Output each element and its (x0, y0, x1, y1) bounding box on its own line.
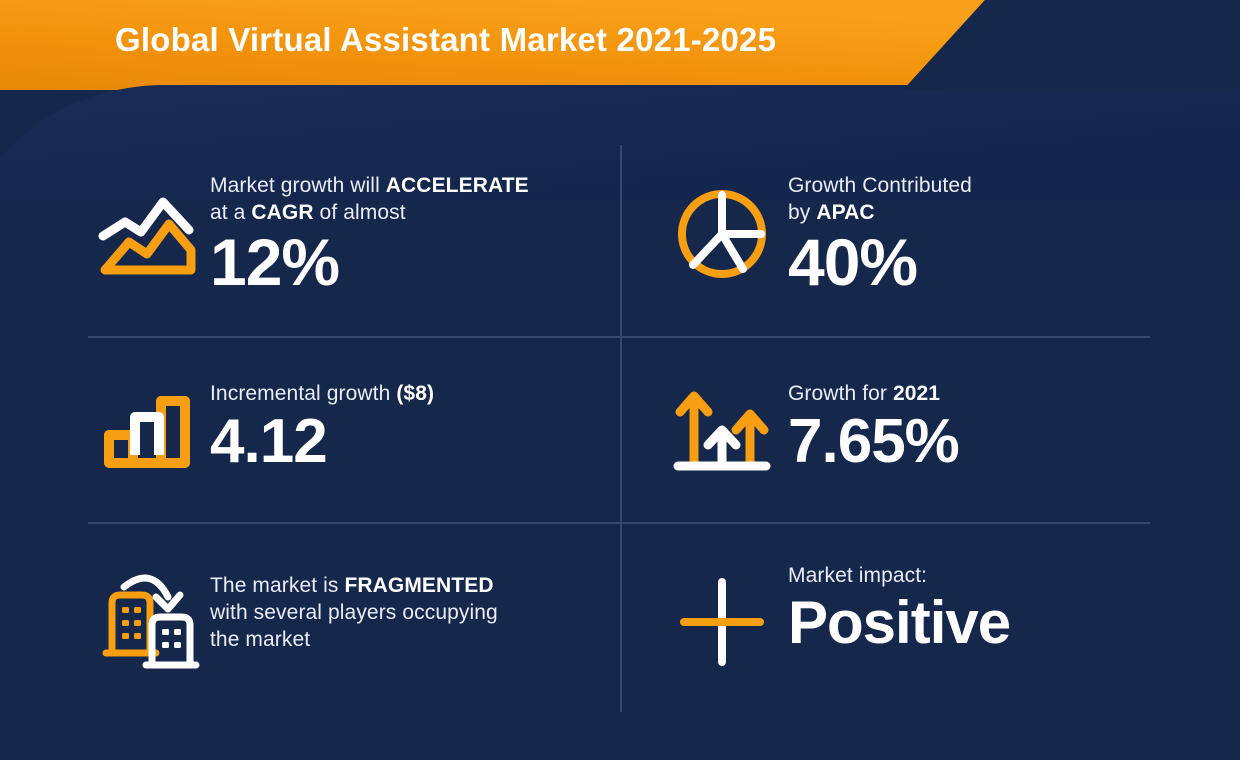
caption-line2-bold: CAGR (251, 201, 313, 224)
caption-line1-bold: ($8) (396, 382, 434, 405)
caption-line1-bold: ACCELERATE (386, 174, 529, 197)
divider-horizontal-1 (88, 336, 1150, 338)
caption-line2-post: of almost (314, 201, 406, 224)
caption-line1-plain: Market growth will (210, 174, 386, 197)
area-chart-icon (92, 186, 202, 286)
stat-value-apac: 40% (788, 229, 1188, 296)
stat-text-growth-2021: Growth for 2021 7.65% (788, 374, 1188, 473)
caption-line2-pre: by (788, 201, 816, 224)
caption-line1-plain: The market is (210, 574, 344, 597)
stat-cell-growth-2021: Growth for 2021 7.65% (668, 374, 1188, 476)
stat-value-growth-2021: 7.65% (788, 410, 1188, 473)
stat-caption-growth-2021: Growth for 2021 (788, 380, 1188, 407)
page-title: Global Virtual Assistant Market 2021-202… (115, 21, 776, 59)
caption-line1-plain: Incremental growth (210, 382, 396, 405)
caption-line1-bold: 2021 (893, 382, 940, 405)
caption-line2-pre: with several players occupying (210, 601, 498, 624)
divider-horizontal-2 (88, 522, 1150, 524)
stat-cell-fragmented: The market is FRAGMENTED with several pl… (92, 560, 612, 672)
stat-text-fragmented: The market is FRAGMENTED with several pl… (210, 560, 612, 653)
caption-line2-bold: APAC (816, 201, 874, 224)
caption-line1-bold: FRAGMENTED (344, 574, 493, 597)
caption-line2-pre: at a (210, 201, 251, 224)
stat-caption-cagr: Market growth will ACCELERATE at a CAGR … (210, 172, 612, 226)
caption-line1-plain: Growth Contributed (788, 174, 972, 197)
infographic-root: Global Virtual Assistant Market 2021-202… (0, 0, 1240, 760)
stat-value-cagr: 12% (210, 229, 612, 296)
stat-cell-cagr: Market growth will ACCELERATE at a CAGR … (92, 168, 612, 296)
stat-caption-market-impact: Market impact: (788, 562, 1188, 589)
buildings-transfer-icon (92, 562, 204, 672)
caption-line1-plain: Market impact: (788, 564, 927, 587)
stat-text-incremental-growth: Incremental growth ($8) 4.12 (210, 374, 612, 473)
stat-value-market-impact: Positive (788, 592, 1188, 653)
stat-cell-apac: Growth Contributed by APAC 40% (668, 168, 1188, 296)
stat-cell-incremental-growth: Incremental growth ($8) 4.12 (92, 374, 612, 476)
caption-line3: the market (210, 628, 310, 651)
divider-vertical (620, 145, 622, 712)
bar-chart-icon (92, 380, 202, 476)
plus-icon (668, 572, 776, 672)
stat-caption-fragmented: The market is FRAGMENTED with several pl… (210, 572, 612, 653)
caption-line1-plain: Growth for (788, 382, 893, 405)
stat-text-cagr: Market growth will ACCELERATE at a CAGR … (210, 168, 612, 296)
stat-text-market-impact: Market impact: Positive (788, 560, 1188, 653)
stat-value-incremental-growth: 4.12 (210, 410, 612, 473)
stat-cell-market-impact: Market impact: Positive (668, 560, 1188, 672)
stat-caption-apac: Growth Contributed by APAC (788, 172, 1188, 226)
up-arrows-icon (668, 380, 776, 476)
stat-caption-incremental-growth: Incremental growth ($8) (210, 380, 612, 407)
stat-text-apac: Growth Contributed by APAC 40% (788, 168, 1188, 296)
pie-chart-icon (668, 184, 776, 284)
